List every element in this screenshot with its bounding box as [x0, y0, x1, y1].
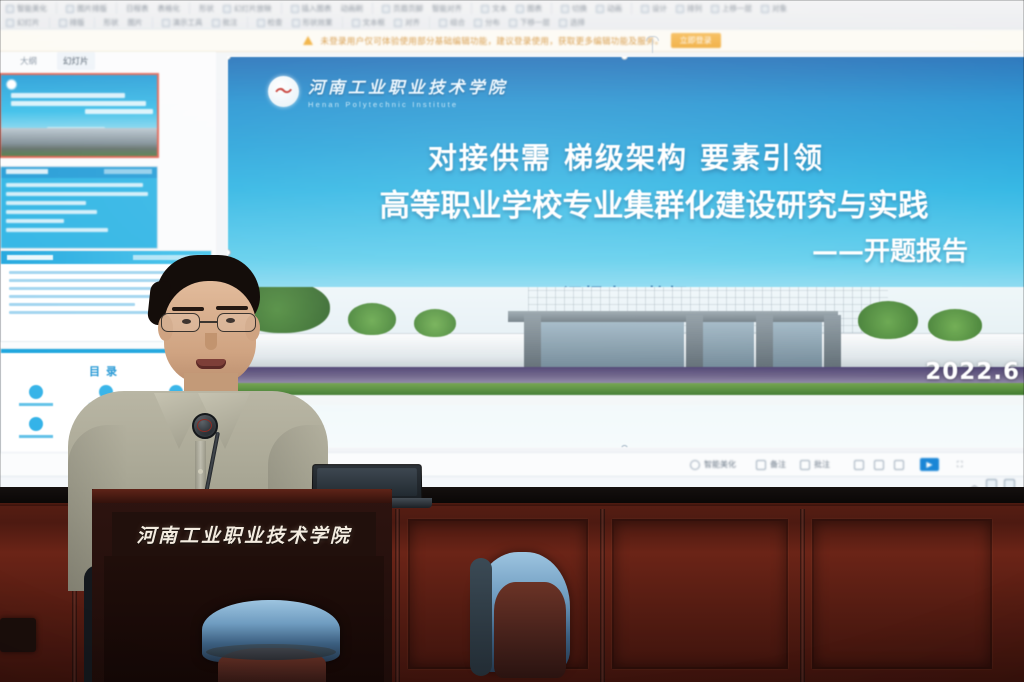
- slide-sorter-icon: [874, 460, 884, 470]
- selection-pane-icon: [559, 19, 567, 27]
- ribbon-item[interactable]: 演示工具: [162, 17, 203, 28]
- ribbon-item[interactable]: 组合: [439, 17, 465, 28]
- shape-effect-icon: [292, 19, 300, 27]
- main-slide[interactable]: 〜 河南工业职业技术学院 Henan Polytechnic Institute…: [228, 57, 1024, 447]
- fullscreen-button[interactable]: ⛶: [957, 460, 967, 470]
- campus-gate-photo: 2022.6: [228, 287, 1024, 405]
- ribbon-item[interactable]: 选择: [559, 17, 585, 28]
- thumbnail-list[interactable]: [0, 74, 162, 249]
- ribbon-item[interactable]: 对象: [761, 3, 787, 14]
- slide-title-line1: 对接供需 梯级架构 要素引领: [228, 135, 1024, 177]
- transition-icon: [561, 5, 569, 13]
- institution-name-cn: 河南工业职业技术学院: [308, 74, 508, 98]
- school-emblem-icon: 〜: [268, 76, 299, 107]
- ribbon-item[interactable]: 动画刷: [341, 3, 364, 14]
- table-icon: [516, 5, 524, 13]
- check-icon: [257, 19, 265, 27]
- ribbon-item[interactable]: 上移一层: [711, 3, 752, 14]
- microphone-rim: [197, 419, 212, 432]
- shirt-button: [198, 469, 203, 474]
- notes-icon: [756, 460, 766, 470]
- eyeglasses: [160, 313, 260, 333]
- slide-title-block: 对接供需 梯级架构 要素引领 高等职业学校专业集群化建设研究与实践 ——开题报告: [228, 135, 1024, 268]
- fullscreen-icon: ⛶: [957, 460, 967, 470]
- catalog-bullet-icon: [29, 417, 43, 431]
- ribbon-item[interactable]: 检查: [257, 17, 283, 28]
- ribbon-item[interactable]: 幻灯片: [6, 17, 40, 28]
- ribbon-item[interactable]: 切换: [561, 3, 587, 14]
- slide-icon: [6, 19, 14, 27]
- ribbon-item[interactable]: 图表: [516, 3, 542, 14]
- mouth: [196, 359, 226, 369]
- select-object-icon: [761, 5, 769, 13]
- send-backward-icon: [509, 19, 517, 27]
- ribbon-item[interactable]: 图片排版: [66, 3, 107, 14]
- ribbon-item[interactable]: 智能对齐: [432, 3, 462, 14]
- podium-nameplate-text: 河南工业职业技术学院: [136, 521, 351, 548]
- ribbon-item[interactable]: 幻灯片放映: [223, 3, 272, 14]
- header-footer-icon: [382, 5, 390, 13]
- status-notes[interactable]: 备注: [756, 459, 786, 470]
- design-icon: [641, 5, 649, 13]
- floor-object: [0, 618, 36, 652]
- institution-name-en: Henan Polytechnic Institute: [308, 100, 508, 109]
- ribbon-item[interactable]: 批注: [212, 17, 238, 28]
- slideshow-icon: [223, 5, 231, 13]
- view-reading-button[interactable]: [894, 460, 904, 470]
- magic-wand-icon: [6, 5, 14, 13]
- status-smart-beautify[interactable]: 智能美化: [690, 459, 736, 470]
- tab-outline[interactable]: 大纲: [14, 52, 43, 70]
- image-icon: [66, 5, 74, 13]
- chair-right: [468, 552, 588, 682]
- arrange-icon: [676, 5, 684, 13]
- panel-tabs[interactable]: 大纲 幻灯片: [14, 52, 95, 70]
- eyebrow-right: [216, 306, 248, 310]
- wps-ribbon-toolbar[interactable]: 智能美化 图片排版 日程表 表格化 形状 幻灯片放映 插入图表 动画刷 页眉页脚…: [0, 0, 1024, 30]
- bring-forward-icon: [711, 5, 719, 13]
- layout-icon: [59, 19, 67, 27]
- slide-thumbnail-2[interactable]: [0, 166, 158, 249]
- ribbon-item[interactable]: 智能美化: [6, 3, 47, 14]
- slide-date: 2022.6: [925, 359, 1020, 385]
- login-notice-bar: 未登录用户仅可体验使用部分基础编辑功能，建议登录使用，获取更多编辑功能及服务。 …: [0, 30, 1024, 52]
- text-icon: [481, 5, 489, 13]
- podium-top-edge: [92, 489, 392, 503]
- comment-icon: [800, 460, 810, 470]
- rotate-handle-stem: [652, 39, 653, 53]
- ribbon-item[interactable]: 插入图表: [291, 3, 332, 14]
- chart-icon: [291, 5, 299, 13]
- notice-text: 未登录用户仅可体验使用部分基础编辑功能，建议登录使用，获取更多编辑功能及服务。: [320, 35, 663, 47]
- ribbon-item[interactable]: 设计: [641, 3, 667, 14]
- align-icon: [394, 19, 402, 27]
- ribbon-item[interactable]: 排版: [59, 17, 85, 28]
- textbox-icon: [352, 19, 360, 27]
- distribute-icon: [474, 19, 482, 27]
- institution-logo: 〜 河南工业职业技术学院 Henan Polytechnic Institute: [268, 74, 508, 109]
- group-icon: [439, 19, 447, 27]
- podium-nameplate: 河南工业职业技术学院: [112, 512, 376, 556]
- comment-icon: [212, 19, 220, 27]
- ribbon-item[interactable]: 排列: [676, 3, 702, 14]
- catalog-bullet-icon: [29, 385, 43, 399]
- reading-view-icon: [894, 460, 904, 470]
- login-now-button[interactable]: 立即登录: [671, 33, 721, 48]
- present-tools-icon: [162, 19, 170, 27]
- view-normal-button[interactable]: [854, 460, 864, 470]
- screenshot-root: 智能美化 图片排版 日程表 表格化 形状 幻灯片放映 插入图表 动画刷 页眉页脚…: [0, 0, 1024, 682]
- eyebrow-left: [172, 307, 204, 311]
- magic-wand-icon: [690, 460, 700, 470]
- selection-handle-tl[interactable]: [228, 57, 231, 60]
- ribbon-item[interactable]: 对齐: [394, 17, 420, 28]
- rotate-handle-icon[interactable]: [646, 36, 659, 41]
- ribbon-item[interactable]: 图片: [128, 17, 143, 28]
- chair-left: [196, 600, 346, 682]
- ribbon-item[interactable]: 形状: [104, 17, 119, 28]
- nose: [205, 333, 217, 350]
- view-sorter-button[interactable]: [874, 460, 884, 470]
- selection-handle-bc[interactable]: [621, 445, 628, 447]
- ribbon-item[interactable]: 形状: [199, 3, 214, 14]
- slide-thumbnail-1[interactable]: [0, 74, 158, 157]
- play-icon: ▶: [920, 458, 939, 471]
- slide-title-line3: ——开题报告: [228, 231, 1024, 268]
- status-comments[interactable]: 批注: [800, 459, 830, 470]
- tab-slides[interactable]: 幻灯片: [57, 52, 95, 70]
- ribbon-item[interactable]: 文本: [481, 3, 507, 14]
- slide-title-line2: 高等职业学校专业集群化建设研究与实践: [256, 181, 1024, 225]
- ribbon-item[interactable]: 文本框: [352, 17, 386, 28]
- ribbon-item[interactable]: 表格化: [158, 3, 181, 14]
- normal-view-icon: [854, 460, 864, 470]
- ribbon-item[interactable]: 页眉页脚: [382, 3, 423, 14]
- ribbon-item[interactable]: 分布: [474, 17, 500, 28]
- warning-triangle-icon: [303, 36, 313, 45]
- thumb-logo-icon: [7, 80, 16, 89]
- ribbon-item[interactable]: 动画: [596, 3, 622, 14]
- ribbon-item[interactable]: 下移一层: [509, 17, 550, 28]
- animation-icon: [596, 5, 604, 13]
- ribbon-item[interactable]: 形状效果: [292, 17, 333, 28]
- ribbon-item[interactable]: 日程表: [126, 3, 149, 14]
- selection-handle-tc[interactable]: [621, 57, 628, 60]
- start-slideshow-button[interactable]: ▶: [920, 458, 939, 471]
